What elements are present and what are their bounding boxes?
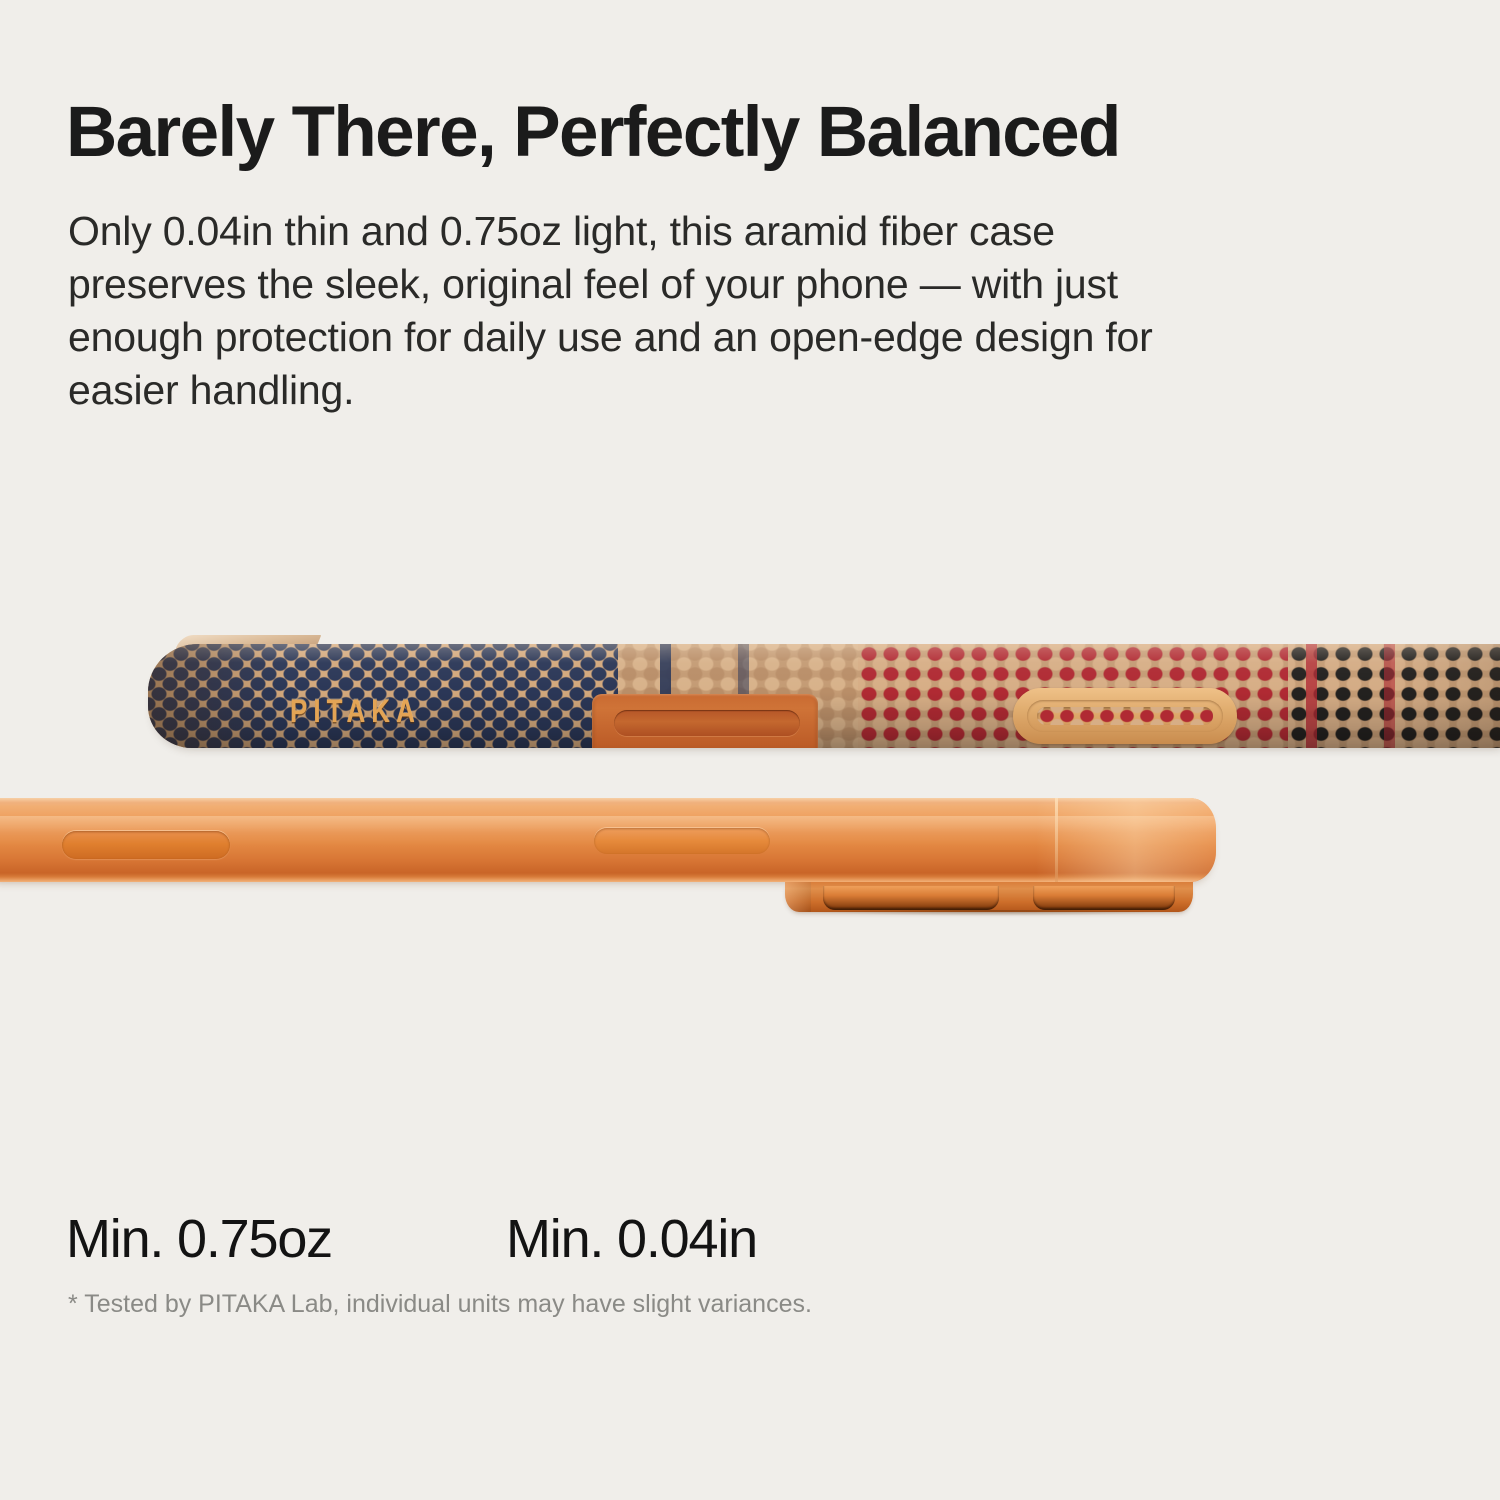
volume-button (614, 710, 800, 736)
camera-bump-shadow (800, 910, 1185, 916)
bare-phone-side-profile-image (0, 798, 1222, 924)
stat-weight: Min. 0.75oz (66, 1208, 506, 1270)
camera-lens-ring-1 (823, 886, 999, 910)
phone-power-button (594, 828, 770, 854)
pitaka-brand-logo: PITAKA (290, 692, 421, 731)
camera-lens-ring-2 (1033, 886, 1175, 910)
slot-opening (1037, 707, 1213, 725)
case-side-slot-cutout (1013, 688, 1237, 744)
case-volume-button-cutout (592, 694, 818, 748)
footnote-disclaimer: * Tested by PITAKA Lab, individual units… (68, 1290, 812, 1319)
weave-segment-black (1288, 644, 1500, 748)
antenna-line (1055, 798, 1058, 882)
case-woven-body: PITAKA (148, 644, 1500, 748)
phone-frame (0, 798, 1216, 882)
stat-thickness: Min. 0.04in (506, 1208, 757, 1270)
frame-end-reflection (1036, 798, 1216, 882)
spec-stats-row: Min. 0.75oz Min. 0.04in (66, 1208, 757, 1270)
page-title: Barely There, Perfectly Balanced (66, 96, 1120, 171)
product-feature-page: Barely There, Perfectly Balanced Only 0.… (0, 0, 1500, 1500)
phone-volume-button (62, 831, 230, 859)
camera-bump-chamfer (785, 882, 811, 912)
camera-bump (785, 882, 1193, 912)
description-paragraph: Only 0.04in thin and 0.75oz light, this … (68, 205, 1178, 417)
frame-bottom-highlight (0, 873, 1216, 882)
case-side-profile-image: PITAKA (148, 616, 1500, 756)
slot-bezel-inner (1027, 700, 1223, 732)
frame-top-highlight (0, 798, 1216, 806)
